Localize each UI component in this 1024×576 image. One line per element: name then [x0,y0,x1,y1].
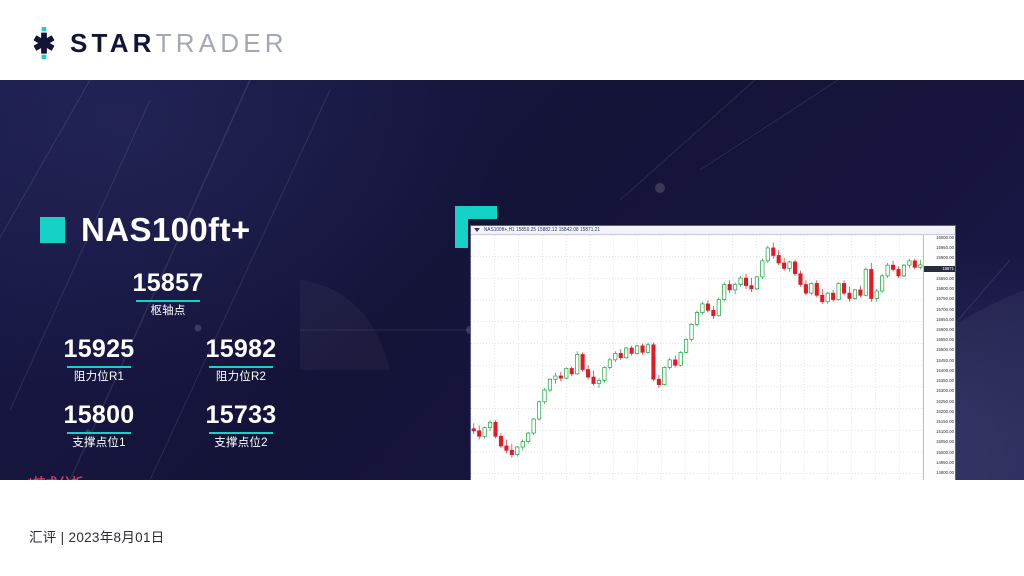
price-tick: 15500.00 [936,347,954,353]
brand-wordmark: STARTRADER [70,30,288,56]
star-asterisk-icon [29,27,59,59]
symbol-heading: NAS100ft+ [40,213,251,246]
level-underline [67,366,131,368]
level-r1-value: 15925 [40,336,158,363]
level-underline [67,432,131,434]
level-s1-value: 15800 [40,402,158,429]
corner-bracket-top-left [455,206,468,248]
price-tick: 15600.00 [936,327,954,333]
hero-section: NAS100ft+ 15857 枢轴点 15925 阻力位R1 15982 阻力… [0,80,1024,480]
chart-toolbar[interactable]: NAS100ft+,H1 15850.25 15882.12 15842.08 … [471,226,955,235]
price-tick: 15200.00 [936,409,954,415]
chart-toolbar-text: NAS100ft+,H1 15850.25 15882.12 15842.08 … [484,227,600,232]
price-tick: 15900.00 [936,255,954,261]
poster-root: STARTRADER [0,0,1024,576]
price-tick: 15000.00 [936,449,954,455]
brand-name-primary: STAR [70,28,156,58]
level-pivot-value: 15857 [36,270,300,297]
level-s2-label: 支撑点位2 [182,437,300,451]
level-support-1: 15800 支撑点位1 [40,402,158,451]
price-tick: 15550.00 [936,337,954,343]
level-pivot-label: 枢轴点 [36,305,300,319]
level-r1-label: 阻力位R1 [40,371,158,385]
price-tick: 14900.00 [936,470,954,476]
price-tick: 15350.00 [936,378,954,384]
price-tick: 15750.00 [936,296,954,302]
price-tick: 15800.00 [936,286,954,292]
level-r2-label: 阻力位R2 [182,371,300,385]
technical-analysis: *技术分析 多头持仓在枢轴点以上，目标位为阻力位R1及阻力位R2。 若低于枢轴点… [28,472,418,480]
analysis-title: *技术分析 [28,472,418,480]
caret-down-icon[interactable] [474,228,480,232]
price-tick: 15400.00 [936,368,954,374]
level-resistance-1: 15925 阻力位R1 [40,336,158,385]
level-s2-value: 15733 [182,402,300,429]
price-tick: 15450.00 [936,357,954,363]
price-chart-card[interactable]: NAS100ft+,H1 15850.25 15882.12 15842.08 … [470,225,956,480]
levels-panel: 15857 枢轴点 15925 阻力位R1 15982 阻力位R2 15800 [40,270,300,450]
brand-name-secondary: TRADER [156,28,288,58]
level-pivot: 15857 枢轴点 [36,270,300,319]
level-resistance-2: 15982 阻力位R2 [182,336,300,385]
footer-caption: 汇评 | 2023年8月01日 [29,526,165,546]
page-header: STARTRADER [0,0,1024,80]
current-price-label: 15871 [924,266,955,272]
square-bullet-icon [40,217,65,243]
page-footer: 汇评 | 2023年8月01日 [0,480,1024,576]
level-r2-value: 15982 [182,336,300,363]
brand-logo[interactable]: STARTRADER [29,27,288,59]
price-tick: 15050.00 [936,439,954,445]
price-tick: 15300.00 [936,388,954,394]
price-tick: 15650.00 [936,317,954,323]
level-s1-label: 支撑点位1 [40,437,158,451]
symbol-name: NAS100ft+ [81,213,251,246]
levels-grid: 15925 阻力位R1 15982 阻力位R2 15800 支撑点位1 1573… [40,336,300,451]
level-underline [209,366,273,368]
level-underline [136,300,200,302]
price-tick: 15700.00 [936,306,954,312]
price-tick: 15850.00 [936,276,954,282]
candlestick-plot [471,235,923,480]
price-tick: 15250.00 [936,398,954,404]
price-tick: 15100.00 [936,429,954,435]
price-tick: 14950.00 [936,460,954,466]
price-tick: 15150.00 [936,419,954,425]
level-support-2: 15733 支撑点位2 [182,402,300,451]
price-tick: 15950.00 [936,245,954,251]
level-underline [209,432,273,434]
price-tick: 16000.00 [936,235,954,240]
price-axis[interactable]: 16000.0015950.0015900.0015871.2115850.00… [923,235,955,480]
